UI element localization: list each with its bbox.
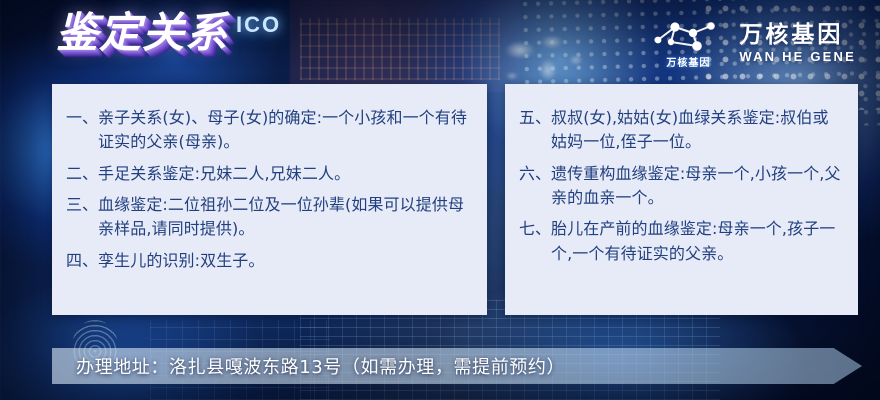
list-item-number: 四、 — [66, 249, 98, 273]
brand-mark-label: 万核基因 — [666, 54, 710, 69]
address-text: 办理地址：洛扎县嘎波东路13号（如需办理，需提前预约） — [76, 350, 565, 382]
list-item: 七、 胎儿在产前的血缘鉴定:母亲一个,孩子一个,一个有待证实的父亲。 — [519, 217, 844, 266]
list-item-text: 胎儿在产前的血缘鉴定:母亲一个,孩子一个,一个有待证实的父亲。 — [551, 217, 844, 266]
page-title: 鉴定关系 ICO — [56, 12, 281, 54]
services-panel-right: 五、 叔叔(女),姑姑(女)血绿关系鉴定:叔伯或姑妈一位,侄子一位。 六、 遗传… — [505, 84, 858, 315]
list-item-number: 七、 — [519, 217, 551, 241]
list-item-text: 孪生儿的识别:双生子。 — [98, 249, 473, 273]
list-item-text: 亲子关系(女)、母子(女)的确定:一个小孩和一个有待证实的父亲(母亲)。 — [98, 106, 473, 155]
list-item-text: 遗传重构血缘鉴定:母亲一个,小孩一个,父亲的血亲一个。 — [551, 162, 844, 211]
brand-text: 万核基因 WAN HE GENE — [739, 22, 856, 65]
list-item: 一、 亲子关系(女)、母子(女)的确定:一个小孩和一个有待证实的父亲(母亲)。 — [66, 106, 473, 155]
molecule-node-icon — [651, 18, 725, 52]
list-item-text: 手足关系鉴定:兄妹二人,兄妹二人。 — [98, 162, 473, 186]
poster-canvas: 鉴定关系 ICO — [0, 0, 880, 400]
services-panel-left: 一、 亲子关系(女)、母子(女)的确定:一个小孩和一个有待证实的父亲(母亲)。 … — [52, 84, 487, 315]
brand-name-cn: 万核基因 — [739, 22, 843, 48]
ico-badge: ICO — [236, 12, 281, 38]
list-item: 二、 手足关系鉴定:兄妹二人,兄妹二人。 — [66, 162, 473, 186]
list-item: 五、 叔叔(女),姑姑(女)血绿关系鉴定:叔伯或姑妈一位,侄子一位。 — [519, 106, 844, 155]
list-item-text: 血缘鉴定:二位祖孙二位及一位孙辈(如果可以提供母亲样品,请同时提供)。 — [98, 193, 473, 242]
list-item-text: 叔叔(女),姑姑(女)血绿关系鉴定:叔伯或姑妈一位,侄子一位。 — [551, 106, 844, 155]
list-item: 三、 血缘鉴定:二位祖孙二位及一位孙辈(如果可以提供母亲样品,请同时提供)。 — [66, 193, 473, 242]
brand-logo: 万核基因 万核基因 WAN HE GENE — [651, 18, 856, 69]
list-item-number: 一、 — [66, 106, 98, 130]
list-item-number: 五、 — [519, 106, 551, 130]
page-title-text: 鉴定关系 — [56, 12, 228, 54]
list-item-number: 六、 — [519, 162, 551, 186]
brand-mark: 万核基因 — [651, 18, 725, 69]
list-item-number: 三、 — [66, 193, 98, 217]
list-item: 六、 遗传重构血缘鉴定:母亲一个,小孩一个,父亲的血亲一个。 — [519, 162, 844, 211]
list-item: 四、 孪生儿的识别:双生子。 — [66, 249, 473, 273]
brand-name-en: WAN HE GENE — [739, 50, 856, 65]
list-item-number: 二、 — [66, 162, 98, 186]
